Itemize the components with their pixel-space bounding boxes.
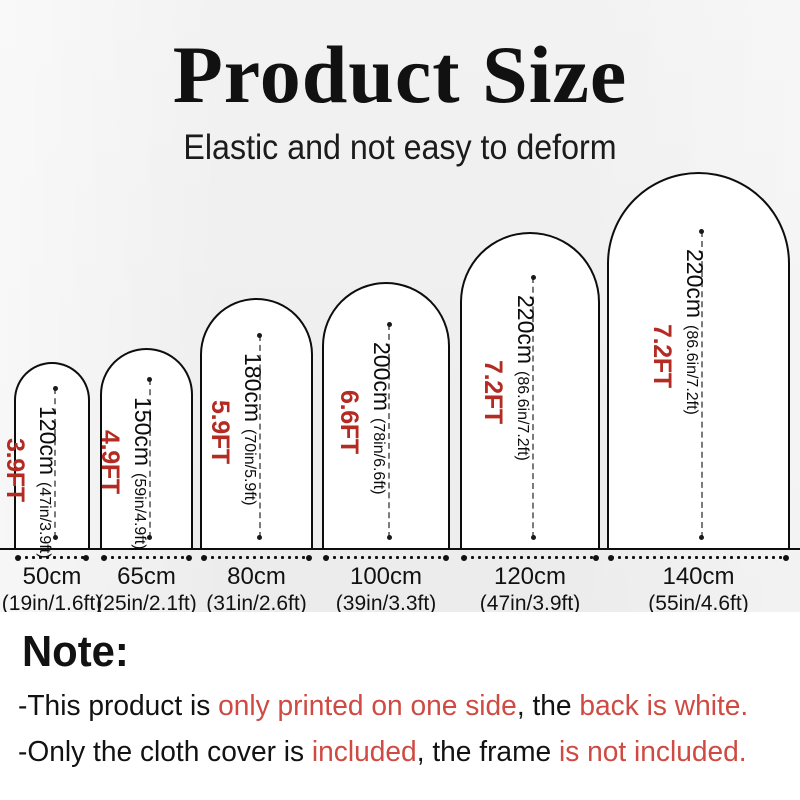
dimension-end-dot	[147, 377, 152, 382]
page-subtitle: Elastic and not easy to deform	[32, 128, 768, 168]
width-caption-80cm: 80cm(31in/2.6ft)	[186, 563, 327, 617]
note-line-2-highlight-1: included	[312, 736, 417, 768]
note-section: Note: -This product is only printed on o…	[0, 612, 800, 800]
height-value-cm: 200cm	[370, 342, 393, 411]
width-value-cm: 120cm	[446, 563, 614, 591]
page-title: Product Size	[0, 33, 800, 117]
height-ft-badge-100cm: 6.6FT	[336, 390, 361, 454]
height-value-cm: 220cm	[514, 295, 537, 364]
note-line-2: -Only the cloth cover is included, the f…	[18, 735, 747, 769]
dimension-end-dot	[186, 555, 192, 561]
height-ft-badge-80cm: 5.9FT	[207, 400, 232, 464]
product-size-infographic: Product Size Elastic and not easy to def…	[0, 0, 800, 800]
note-line-1-part-2: , the	[517, 690, 580, 722]
arch-shape-140cm: 220cm(86.6in/7.2ft)7.2FT	[607, 172, 790, 548]
note-line-2-part-1: -Only the cloth cover is	[18, 736, 312, 768]
height-value-inft: (86.6in/7.2ft)	[514, 371, 530, 461]
height-value-inft: (70in/5.9ft)	[241, 429, 257, 505]
note-line-2-highlight-2: is not included.	[559, 736, 747, 768]
dimension-end-dot	[15, 555, 21, 561]
height-ft-badge-65cm: 4.9FT	[97, 430, 122, 494]
height-label-80cm: 180cm(70in/5.9ft)	[241, 353, 264, 506]
arch-shape-120cm: 220cm(86.6in/7.2ft)7.2FT	[460, 232, 600, 548]
height-label-100cm: 200cm(78in/6.6ft)	[370, 342, 393, 495]
dimension-end-dot	[306, 555, 312, 561]
dimension-end-dot	[531, 535, 536, 540]
dimension-end-dot	[461, 555, 467, 561]
arch-shape-50cm: 120cm(47in/3.9ft)3.9FT	[14, 362, 90, 548]
dimension-end-dot	[593, 555, 599, 561]
height-label-140cm: 220cm(86.6in/7.2ft)	[683, 249, 706, 415]
height-ft-badge-50cm: 3.9FT	[2, 438, 27, 502]
width-dimension-line-50cm	[16, 556, 88, 559]
chart-baseline	[0, 548, 800, 550]
height-ft-badge-120cm: 7.2FT	[480, 360, 505, 424]
height-value-cm: 150cm	[131, 397, 154, 466]
height-value-inft: (47in/3.9ft)	[36, 482, 52, 558]
dimension-end-dot	[608, 555, 614, 561]
dimension-end-dot	[699, 229, 704, 234]
dimension-end-dot	[257, 333, 262, 338]
dimension-end-dot	[699, 535, 704, 540]
arch-shape-65cm: 150cm(59in/4.9ft)4.9FT	[100, 348, 193, 548]
height-label-50cm: 120cm(47in/3.9ft)	[36, 406, 59, 559]
note-line-1-highlight-1: only printed on one side	[218, 690, 517, 722]
width-value-cm: 140cm	[593, 563, 800, 591]
note-line-1-highlight-2: back is white.	[579, 690, 748, 722]
note-line-2-part-2: , the frame	[417, 736, 559, 768]
width-caption-140cm: 140cm(55in/4.6ft)	[593, 563, 800, 617]
arch-shape-100cm: 200cm(78in/6.6ft)6.6FT	[322, 282, 450, 548]
height-value-cm: 180cm	[241, 353, 264, 422]
height-value-cm: 220cm	[683, 249, 706, 318]
note-line-1-part-1: -This product is	[18, 690, 218, 722]
dimension-end-dot	[101, 555, 107, 561]
width-value-cm: 100cm	[308, 563, 464, 591]
note-title: Note:	[22, 628, 129, 676]
height-label-65cm: 150cm(59in/4.9ft)	[131, 397, 154, 550]
arch-shape-80cm: 180cm(70in/5.9ft)5.9FT	[200, 298, 313, 548]
width-dimension-line-140cm	[609, 556, 788, 559]
height-value-cm: 120cm	[36, 406, 59, 475]
height-label-120cm: 220cm(86.6in/7.2ft)	[514, 295, 537, 461]
width-value-cm: 80cm	[186, 563, 327, 591]
width-dimension-line-120cm	[462, 556, 598, 559]
dimension-end-dot	[531, 275, 536, 280]
dimension-end-dot	[387, 322, 392, 327]
height-value-inft: (86.6in/7.2ft)	[683, 325, 699, 415]
dimension-end-dot	[443, 555, 449, 561]
dimension-end-dot	[53, 386, 58, 391]
height-value-inft: (59in/4.9ft)	[131, 473, 147, 549]
dimension-end-dot	[783, 555, 789, 561]
height-value-inft: (78in/6.6ft)	[370, 418, 386, 494]
width-caption-100cm: 100cm(39in/3.3ft)	[308, 563, 464, 617]
dimension-end-dot	[257, 535, 262, 540]
dimension-end-dot	[323, 555, 329, 561]
dimension-end-dot	[387, 535, 392, 540]
dimension-end-dot	[83, 555, 89, 561]
width-dimension-line-65cm	[102, 556, 191, 559]
width-caption-120cm: 120cm(47in/3.9ft)	[446, 563, 614, 617]
width-dimension-line-100cm	[324, 556, 448, 559]
width-dimension-line-80cm	[202, 556, 311, 559]
height-ft-badge-140cm: 7.2FT	[649, 324, 674, 388]
dimension-end-dot	[201, 555, 207, 561]
note-line-1: -This product is only printed on one sid…	[18, 689, 748, 723]
